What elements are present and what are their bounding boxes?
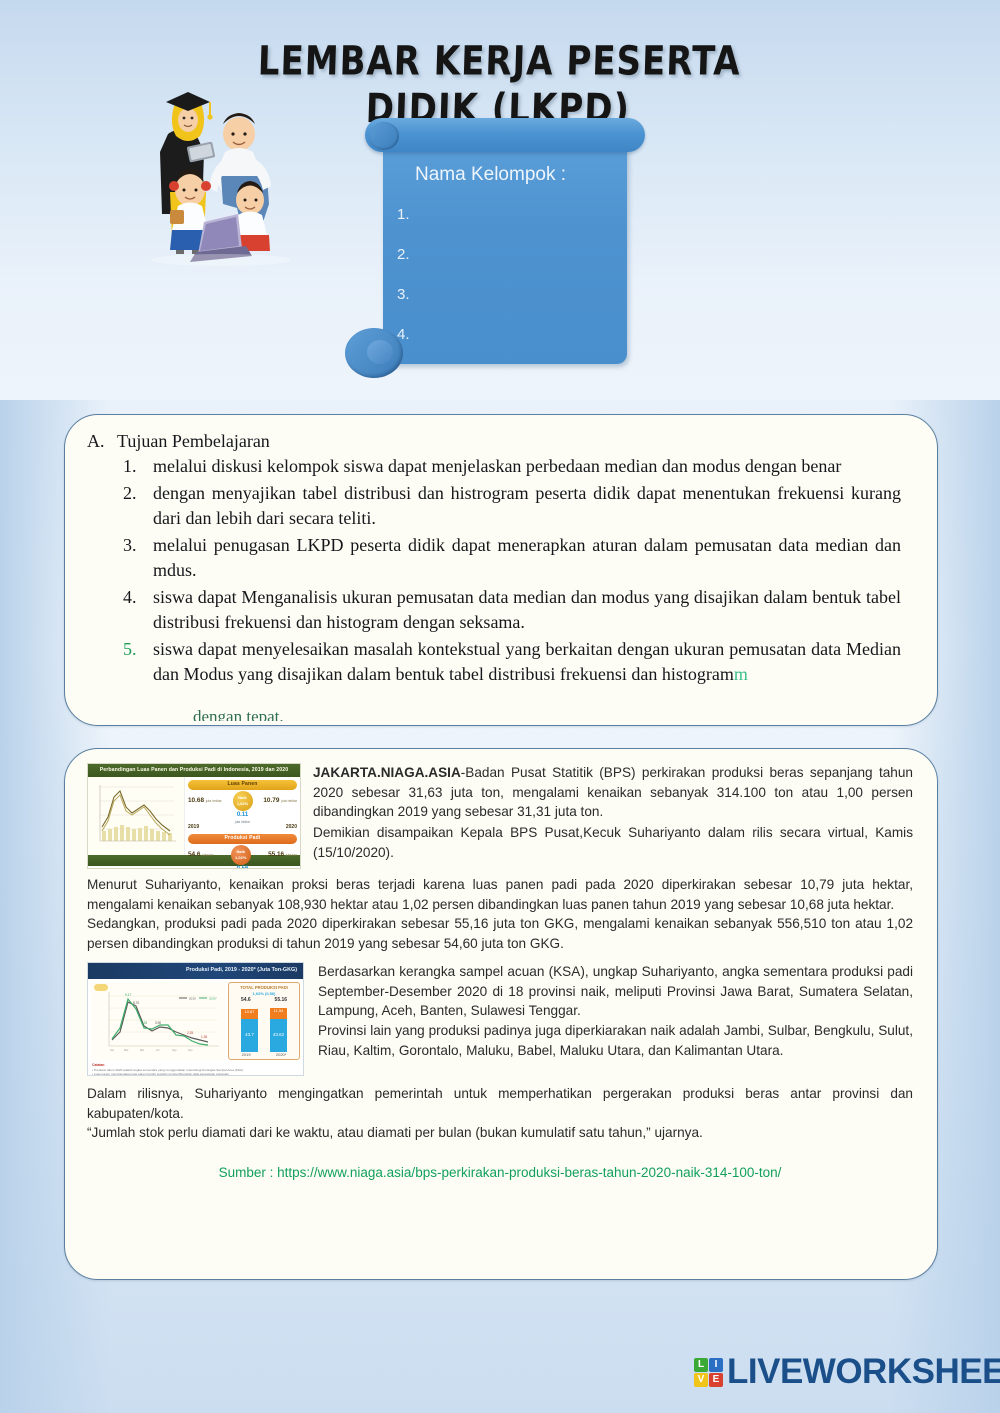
liveworksheets-brand-text: LIVEWORKSHEETS [727, 1352, 1000, 1392]
svg-text:2,25: 2,25 [187, 1031, 193, 1035]
produksi-unit-right: juta ton [286, 853, 297, 857]
svg-text:Sep: Sep [172, 1048, 177, 1052]
objectives-heading: A.Tujuan Pembelajaran [87, 431, 911, 452]
objective-text-3: melalui penugasan LKPD peserta didik dap… [153, 535, 901, 581]
svg-text:3,90: 3,90 [155, 1021, 161, 1025]
scroll-top-roll [365, 118, 645, 152]
objective-number-3: 3. [123, 533, 137, 559]
news-paragraph-5: Berdasarkan kerangka sampel acuan (KSA),… [318, 962, 913, 1021]
bar-2019-jan-ags: 43.7 [241, 1019, 258, 1052]
total-change-value: 0.56 [266, 991, 274, 996]
group-name-label: Nama Kelompok : [415, 164, 625, 186]
luas-panen-year-2020: 2020 [286, 824, 297, 831]
total-values-row: 54.6 55.16 [229, 997, 299, 1004]
objective-item-1: 1. melalui diskusi kelompok siswa dapat … [123, 454, 901, 480]
objectives-clipped-line: dengan tepat. [193, 707, 393, 721]
total-bar-2019: 10.87 43.7 [241, 1004, 258, 1052]
luas-panen-unit-right: juta hektar [281, 799, 297, 803]
svg-text:2019: 2019 [189, 996, 196, 1000]
luas-panen-change-percent: 1,02% [237, 801, 248, 807]
news-article-card: Perbandingan Luas Panen dan Produksi Pad… [64, 748, 938, 1280]
luas-panen-year-2019: 2019 [188, 824, 199, 831]
objective-item-5: 5. siswa dapat menyelesaikan masalah kon… [123, 637, 901, 688]
total-bar-2020: 11.54 43.62 [270, 1004, 287, 1052]
liveworksheets-logo[interactable]: L I V E LIVEWORKSHEETS [694, 1352, 1000, 1392]
luas-panen-2019-value: 10.68 [188, 797, 204, 804]
logo-tile-i: I [709, 1358, 723, 1372]
bps-comparison-infographic: Perbandingan Luas Panen dan Produksi Pad… [87, 763, 301, 869]
total-year-2020: 2020* [276, 1052, 286, 1058]
group-member-4[interactable]: 4. [397, 326, 410, 343]
objective-text-1: melalui diskusi kelompok siswa dapat men… [153, 456, 841, 476]
luas-panen-delta-value: 0.11 [237, 812, 248, 818]
students-illustration [126, 72, 321, 267]
objective-number-4: 4. [123, 585, 137, 611]
svg-text:9,17: 9,17 [125, 993, 131, 997]
objectives-section-letter: A. [87, 431, 117, 452]
total-2019-value: 54.6 [241, 997, 251, 1004]
produksi-delta-value: 0.56 [237, 866, 249, 869]
total-2020-value: 55.16 [275, 997, 288, 1004]
liveworksheets-logo-tiles: L I V E [694, 1358, 723, 1387]
news-paragraph-6: Provinsi lain yang produksi padinya juga… [318, 1021, 913, 1060]
svg-text:8,70: 8,70 [133, 1001, 139, 1005]
objective-text-4: siswa dapat Menganalisis ukuran pemusata… [153, 587, 901, 633]
infographic-1-linechart [88, 777, 185, 855]
group-member-3[interactable]: 3. [397, 286, 410, 303]
objective-item-2: 2. dengan menyajikan tabel distribusi da… [123, 481, 901, 532]
logo-tile-e: E [709, 1373, 723, 1387]
svg-text:Jan: Jan [110, 1048, 115, 1052]
objective-number-1: 1. [123, 454, 137, 480]
news-paragraph-3: Menurut Suhariyanto, kenaikan proksi ber… [87, 875, 913, 914]
objectives-list: 1. melalui diskusi kelompok siswa dapat … [87, 454, 911, 688]
group-name-scroll: Nama Kelompok : 1. 2. 3. 4. [345, 118, 645, 386]
total-panel-title: TOTAL PRODUKSI PADI [229, 983, 299, 991]
svg-text:Jul: Jul [156, 1048, 160, 1052]
news-source-link[interactable]: Sumber : https://www.niaga.asia/bps-perk… [87, 1163, 913, 1183]
learning-objectives-card: A.Tujuan Pembelajaran 1. melalui diskusi… [64, 414, 938, 726]
svg-text:Mei: Mei [140, 1048, 145, 1052]
news-paragraph-8: “Jumlah stok perlu diamati dari ke waktu… [87, 1123, 913, 1143]
produksi-unit-left: juta ton [202, 853, 213, 857]
produksi-2020-value: 55.16 [268, 851, 284, 858]
objective-item-4: 4. siswa dapat Menganalisis ukuran pemus… [123, 585, 901, 636]
scroll-bottom-curl-icon [345, 328, 403, 378]
svg-text:Mar: Mar [124, 1048, 129, 1052]
total-year-labels: 2019 2020* [229, 1052, 299, 1058]
total-year-2019: 2019 [242, 1052, 251, 1058]
luas-panen-2020-value: 10.79 [263, 797, 279, 804]
produksi-padi-chart-infographic: Produksi Padi, 2019 - 2020* (Juta Ton-GK… [87, 962, 304, 1076]
scroll-top-curl-icon [369, 122, 399, 150]
infographic-2-notes: • Produksi tahun 2020 adalah angka semen… [88, 1068, 303, 1076]
infographic-2-total-panel: TOTAL PRODUKSI PADI 1,02% (0.56) 54.6 55… [228, 982, 300, 1060]
objective-text-5-tail: m [734, 664, 748, 684]
logo-tile-v: V [694, 1373, 708, 1387]
news-paragraph-4: Sedangkan, produksi padi pada 2020 diper… [87, 914, 913, 953]
objective-text-5: siswa dapat menyelesaikan masalah kontek… [153, 639, 901, 685]
produksi-change-badge: Naik 1,02% [231, 845, 251, 865]
luas-panen-pill: Luas Panen [188, 780, 297, 790]
luas-panen-unit-left: juta hektar [206, 799, 222, 803]
bar-2020-sep-des: 11.54 [270, 1008, 287, 1019]
total-change-percent: 1,02% [253, 991, 264, 996]
news-paragraph-2: Demikian disampaikan Kepala BPS Pusat,Ke… [313, 823, 913, 862]
produksi-2019-value: 54.6 [188, 851, 200, 858]
objective-item-3: 3. melalui penugasan LKPD peserta didik … [123, 533, 901, 584]
objective-number-2: 2. [123, 481, 137, 507]
svg-text:2020*: 2020* [209, 996, 218, 1000]
bar-2020-jan-ags: 43.62 [270, 1019, 287, 1052]
group-member-2[interactable]: 2. [397, 246, 410, 263]
svg-text:Nov: Nov [188, 1048, 193, 1052]
luas-panen-change-badge: Naik 1,02% [233, 791, 253, 811]
infographic-2-title: Produksi Padi, 2019 - 2020* (Juta Ton-GK… [88, 963, 303, 979]
news-lead-source: JAKARTA.NIAGA.ASIA [313, 765, 461, 780]
produksi-change-percent: 1,02% [235, 855, 246, 861]
infographic-2-linechart: 9,174,25 8,703,90 2,251,35 JanMa [91, 982, 225, 1060]
news-paragraph-7: Dalam rilisnya, Suhariyanto mengingatkan… [87, 1084, 913, 1123]
objectives-title-text: Tujuan Pembelajaran [117, 431, 270, 451]
group-member-1[interactable]: 1. [397, 206, 410, 223]
objective-text-2: dengan menyajikan tabel distribusi dan h… [153, 483, 901, 529]
svg-text:1,35: 1,35 [201, 1035, 207, 1039]
svg-text:4,25: 4,25 [141, 1021, 147, 1025]
objective-number-5: 5. [123, 637, 137, 663]
logo-tile-l: L [694, 1358, 708, 1372]
news-paragraph-1: JAKARTA.NIAGA.ASIA-Badan Pusat Statitik … [313, 763, 913, 822]
bar-2019-sep-des: 10.87 [241, 1009, 258, 1019]
produksi-padi-pill: Produksi Padi [188, 834, 297, 844]
infographic-1-title: Perbandingan Luas Panen dan Produksi Pad… [88, 764, 300, 777]
